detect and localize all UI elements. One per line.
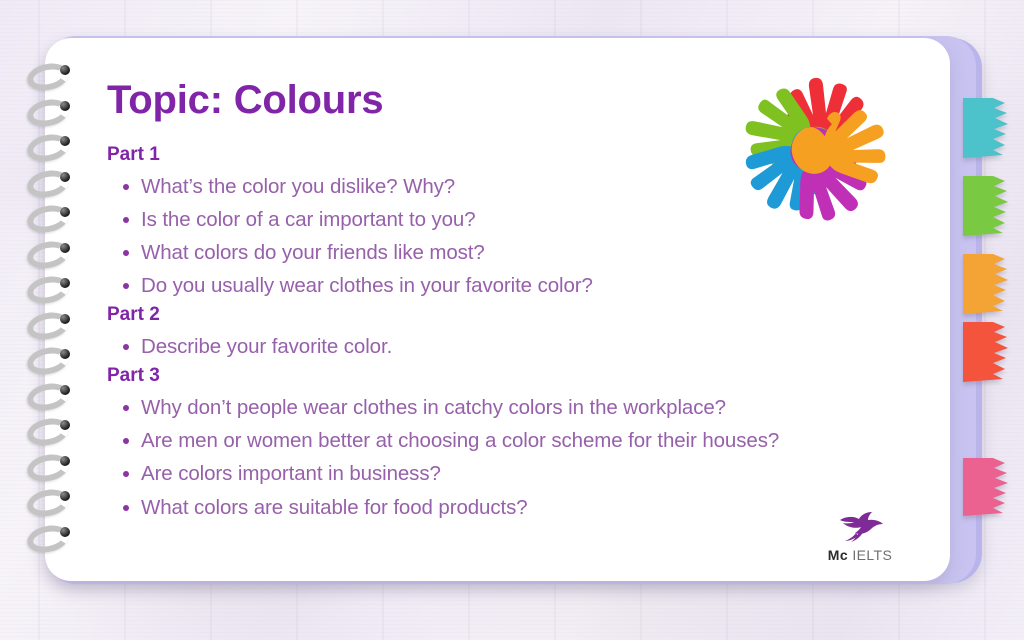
spiral-ring-tip — [60, 207, 70, 217]
spiral-ring — [27, 100, 69, 126]
tab-pink-icon — [963, 458, 1009, 516]
spiral-ring-tip — [60, 491, 70, 501]
spiral-ring — [27, 384, 69, 410]
bird-icon — [834, 509, 886, 545]
spiral-ring-tip — [60, 136, 70, 146]
logo-ielts: IELTS — [852, 547, 892, 563]
tab-orange-icon — [963, 254, 1009, 314]
spiral-ring-tip — [60, 101, 70, 111]
spiral-ring — [27, 242, 69, 268]
spiral-ring-tip — [60, 527, 70, 537]
tab-teal[interactable] — [963, 98, 1009, 158]
spiral-ring-tip — [60, 385, 70, 395]
tab-pink[interactable] — [963, 458, 1009, 516]
spiral-ring — [27, 206, 69, 232]
spiral-ring-tip — [60, 420, 70, 430]
spiral-ring — [27, 348, 69, 374]
logo-mc: Mc — [828, 547, 848, 563]
tab-teal-icon — [963, 98, 1009, 158]
spiral-binding-icon — [22, 64, 82, 564]
logo-wordmark: Mc IELTS — [808, 547, 912, 563]
logo: Mc IELTS — [808, 509, 912, 563]
tab-orange[interactable] — [963, 254, 1009, 314]
spiral-ring-tip — [60, 243, 70, 253]
spiral-ring — [27, 313, 69, 339]
spiral-ring — [27, 277, 69, 303]
spiral-ring — [27, 135, 69, 161]
spiral-ring-tip — [60, 172, 70, 182]
spiral-ring — [27, 455, 69, 481]
spiral-ring — [27, 171, 69, 197]
spiral-ring-tip — [60, 349, 70, 359]
tab-red-icon — [963, 322, 1009, 382]
tab-green-icon — [963, 176, 1009, 236]
spiral-ring-tip — [60, 65, 70, 75]
tab-green[interactable] — [963, 176, 1009, 236]
spiral-ring — [27, 64, 69, 90]
spiral-ring — [27, 419, 69, 445]
spiral-ring-tip — [60, 314, 70, 324]
spiral-ring — [27, 526, 69, 552]
spiral-ring — [27, 490, 69, 516]
spiral-ring-tip — [60, 278, 70, 288]
spiral-ring-tip — [60, 456, 70, 466]
tab-red[interactable] — [963, 322, 1009, 382]
